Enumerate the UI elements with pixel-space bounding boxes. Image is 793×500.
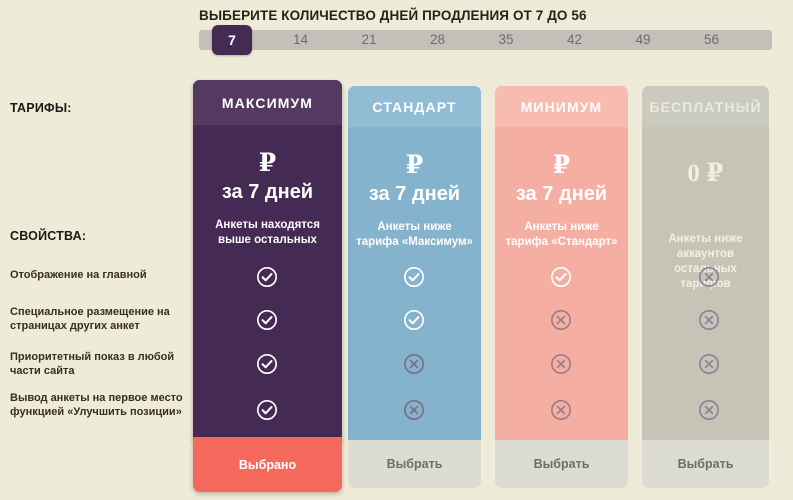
plan-select-button-label-free: Выбрать [678,457,734,471]
days-slider[interactable]: 714212835424956 7 [199,30,772,50]
plan-description-max: Анкеты находятся выше остальных [193,218,342,248]
cross-circle-icon [403,399,425,421]
slider-tick-21[interactable]: 21 [349,30,389,50]
slider-title: ВЫБЕРИТЕ КОЛИЧЕСТВО ДНЕЙ ПРОДЛЕНИЯ ОТ 7 … [199,8,587,23]
plan-name-max: МАКСИМУМ [193,80,342,125]
cross-circle-icon [698,309,720,331]
slider-tick-49[interactable]: 49 [623,30,663,50]
cross-circle-icon [698,266,720,288]
plan-price-max: ₽ [193,150,342,178]
plan-description-std: Анкеты ниже тарифа «Максимум» [348,220,481,250]
check-circle-icon [256,266,278,288]
plan-select-button-label-max: Выбрано [239,458,296,472]
feature-label-4: Вывод анкеты на первое место функцией «У… [10,391,188,419]
tariffs-label: ТАРИФЫ: [10,101,72,115]
plan-select-button-max[interactable]: Выбрано [193,437,342,492]
slider-handle[interactable]: 7 [212,25,252,55]
plan-price-min: ₽ [495,152,628,180]
cross-circle-icon [550,309,572,331]
plan-select-button-label-min: Выбрать [534,457,590,471]
slider-tick-56[interactable]: 56 [692,30,732,50]
check-circle-icon [403,309,425,331]
plan-description-min: Анкеты ниже тарифа «Стандарт» [495,220,628,250]
cross-circle-icon [550,399,572,421]
plan-name-free: БЕСПЛАТНЫЙ [642,86,769,127]
check-circle-icon [403,266,425,288]
slider-ticks: 714212835424956 [199,30,772,50]
slider-tick-28[interactable]: 28 [418,30,458,50]
cross-circle-icon [403,353,425,375]
plan-select-button-label-std: Выбрать [387,457,443,471]
plan-price-period-std: за 7 дней [348,182,481,206]
plan-card-min[interactable]: МИНИМУМ₽за 7 днейАнкеты ниже тарифа «Ста… [495,86,628,440]
plan-name-min: МИНИМУМ [495,86,628,127]
plan-price-period-min: за 7 дней [495,182,628,206]
feature-label-1: Отображение на главной [10,268,188,282]
plan-select-button-free[interactable]: Выбрать [642,440,769,488]
properties-label: СВОЙСТВА: [10,229,86,243]
plan-body-min: ₽за 7 днейАнкеты ниже тарифа «Стандарт» [495,152,628,250]
feature-label-3: Приоритетный показ в любой части сайта [10,350,188,378]
slider-tick-42[interactable]: 42 [555,30,595,50]
plan-select-button-min[interactable]: Выбрать [495,440,628,488]
slider-tick-35[interactable]: 35 [486,30,526,50]
cross-circle-icon [550,353,572,375]
plan-card-std[interactable]: СТАНДАРТ₽за 7 днейАнкеты ниже тарифа «Ма… [348,86,481,440]
plan-body-std: ₽за 7 днейАнкеты ниже тарифа «Максимум» [348,152,481,250]
check-circle-icon [256,399,278,421]
plan-select-button-std[interactable]: Выбрать [348,440,481,488]
check-circle-icon [256,353,278,375]
check-circle-icon [550,266,572,288]
plan-price-std: ₽ [348,152,481,180]
check-circle-icon [256,309,278,331]
slider-tick-14[interactable]: 14 [281,30,321,50]
plan-price-period-max: за 7 дней [193,180,342,204]
plan-name-std: СТАНДАРТ [348,86,481,127]
plan-body-max: ₽за 7 днейАнкеты находятся выше остальны… [193,150,342,248]
cross-circle-icon [698,399,720,421]
pricing-page: ВЫБЕРИТЕ КОЛИЧЕСТВО ДНЕЙ ПРОДЛЕНИЯ ОТ 7 … [0,0,793,500]
feature-label-2: Специальное размещение на страницах друг… [10,305,188,333]
cross-circle-icon [698,353,720,375]
plan-card-free[interactable]: БЕСПЛАТНЫЙ0 ₽Анкеты ниже аккаунтов остал… [642,86,769,440]
plan-price-free: 0 ₽ [642,160,769,188]
plan-card-max[interactable]: МАКСИМУМ₽за 7 днейАнкеты находятся выше … [193,80,342,440]
